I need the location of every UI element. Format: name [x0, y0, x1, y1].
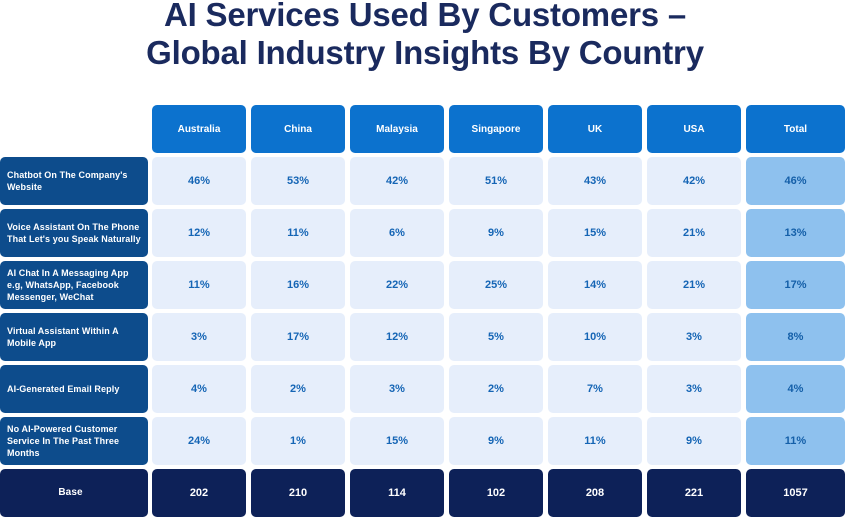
data-table: Australia China Malaysia Singapore UK US…	[0, 105, 850, 519]
cell-r5-singapore: 9%	[449, 417, 543, 465]
cell-r0-uk: 43%	[548, 157, 642, 205]
column-header-uk[interactable]: UK	[548, 105, 642, 153]
column-header-australia[interactable]: Australia	[152, 105, 246, 153]
cell-r4-australia: 4%	[152, 365, 246, 413]
cell-base-usa: 221	[647, 469, 741, 517]
header-corner-cell	[0, 105, 148, 153]
cell-r3-australia: 3%	[152, 313, 246, 361]
cell-r4-china: 2%	[251, 365, 345, 413]
cell-r0-total: 46%	[746, 157, 845, 205]
page-title-line-1: AI Services Used By Customers –	[0, 0, 850, 34]
cell-r1-china: 11%	[251, 209, 345, 257]
cell-r1-singapore: 9%	[449, 209, 543, 257]
cell-r0-china: 53%	[251, 157, 345, 205]
table-header-row: Australia China Malaysia Singapore UK US…	[0, 105, 850, 153]
cell-base-total: 1057	[746, 469, 845, 517]
header-cells: Australia China Malaysia Singapore UK US…	[152, 105, 850, 153]
cell-r3-usa: 3%	[647, 313, 741, 361]
cell-base-malaysia: 114	[350, 469, 444, 517]
cell-base-uk: 208	[548, 469, 642, 517]
row-cells: 11% 16% 22% 25% 14% 21% 17%	[152, 261, 850, 309]
base-row-cells: 202 210 114 102 208 221 1057	[152, 469, 850, 517]
row-cells: 4% 2% 3% 2% 7% 3% 4%	[152, 365, 850, 413]
cell-r2-singapore: 25%	[449, 261, 543, 309]
cell-r4-malaysia: 3%	[350, 365, 444, 413]
cell-r4-total: 4%	[746, 365, 845, 413]
cell-base-australia: 202	[152, 469, 246, 517]
table-row: AI-Generated Email Reply 4% 2% 3% 2% 7% …	[0, 365, 850, 413]
cell-r2-usa: 21%	[647, 261, 741, 309]
cell-r0-malaysia: 42%	[350, 157, 444, 205]
column-header-singapore[interactable]: Singapore	[449, 105, 543, 153]
cell-r4-usa: 3%	[647, 365, 741, 413]
row-label-chatbot-website: Chatbot On The Company's Website	[0, 157, 148, 205]
row-label-ai-generated-email-reply: AI-Generated Email Reply	[0, 365, 148, 413]
cell-r0-singapore: 51%	[449, 157, 543, 205]
table-row: No AI-Powered Customer Service In The Pa…	[0, 417, 850, 465]
cell-r3-singapore: 5%	[449, 313, 543, 361]
row-label-voice-assistant-phone: Voice Assistant On The Phone That Let's …	[0, 209, 148, 257]
cell-r3-total: 8%	[746, 313, 845, 361]
cell-r1-australia: 12%	[152, 209, 246, 257]
cell-r5-australia: 24%	[152, 417, 246, 465]
row-label-base: Base	[0, 469, 148, 517]
cell-r5-usa: 9%	[647, 417, 741, 465]
cell-r0-usa: 42%	[647, 157, 741, 205]
cell-r2-malaysia: 22%	[350, 261, 444, 309]
cell-r2-australia: 11%	[152, 261, 246, 309]
table-row: AI Chat In A Messaging App e.g, WhatsApp…	[0, 261, 850, 309]
cell-base-china: 210	[251, 469, 345, 517]
column-header-usa[interactable]: USA	[647, 105, 741, 153]
cell-r3-malaysia: 12%	[350, 313, 444, 361]
cell-r3-uk: 10%	[548, 313, 642, 361]
table-row: Voice Assistant On The Phone That Let's …	[0, 209, 850, 257]
column-header-total[interactable]: Total	[746, 105, 845, 153]
column-header-china[interactable]: China	[251, 105, 345, 153]
cell-r2-uk: 14%	[548, 261, 642, 309]
cell-r5-uk: 11%	[548, 417, 642, 465]
cell-r4-uk: 7%	[548, 365, 642, 413]
row-label-ai-chat-messaging-app: AI Chat In A Messaging App e.g, WhatsApp…	[0, 261, 148, 309]
cell-r2-total: 17%	[746, 261, 845, 309]
cell-r1-total: 13%	[746, 209, 845, 257]
cell-r5-china: 1%	[251, 417, 345, 465]
row-cells: 46% 53% 42% 51% 43% 42% 46%	[152, 157, 850, 205]
cell-r5-total: 11%	[746, 417, 845, 465]
cell-r2-china: 16%	[251, 261, 345, 309]
table-row: Virtual Assistant Within A Mobile App 3%…	[0, 313, 850, 361]
cell-r1-usa: 21%	[647, 209, 741, 257]
row-label-virtual-assistant-mobile-app: Virtual Assistant Within A Mobile App	[0, 313, 148, 361]
cell-r0-australia: 46%	[152, 157, 246, 205]
page-title: AI Services Used By Customers – Global I…	[0, 0, 850, 72]
table-row: Chatbot On The Company's Website 46% 53%…	[0, 157, 850, 205]
row-cells: 3% 17% 12% 5% 10% 3% 8%	[152, 313, 850, 361]
cell-r1-malaysia: 6%	[350, 209, 444, 257]
cell-r5-malaysia: 15%	[350, 417, 444, 465]
row-cells: 12% 11% 6% 9% 15% 21% 13%	[152, 209, 850, 257]
cell-base-singapore: 102	[449, 469, 543, 517]
page-title-line-2: Global Industry Insights By Country	[0, 34, 850, 72]
cell-r4-singapore: 2%	[449, 365, 543, 413]
row-cells: 24% 1% 15% 9% 11% 9% 11%	[152, 417, 850, 465]
table-base-row: Base 202 210 114 102 208 221 1057	[0, 469, 850, 517]
column-header-malaysia[interactable]: Malaysia	[350, 105, 444, 153]
cell-r3-china: 17%	[251, 313, 345, 361]
row-label-no-ai-powered-service: No AI-Powered Customer Service In The Pa…	[0, 417, 148, 465]
cell-r1-uk: 15%	[548, 209, 642, 257]
